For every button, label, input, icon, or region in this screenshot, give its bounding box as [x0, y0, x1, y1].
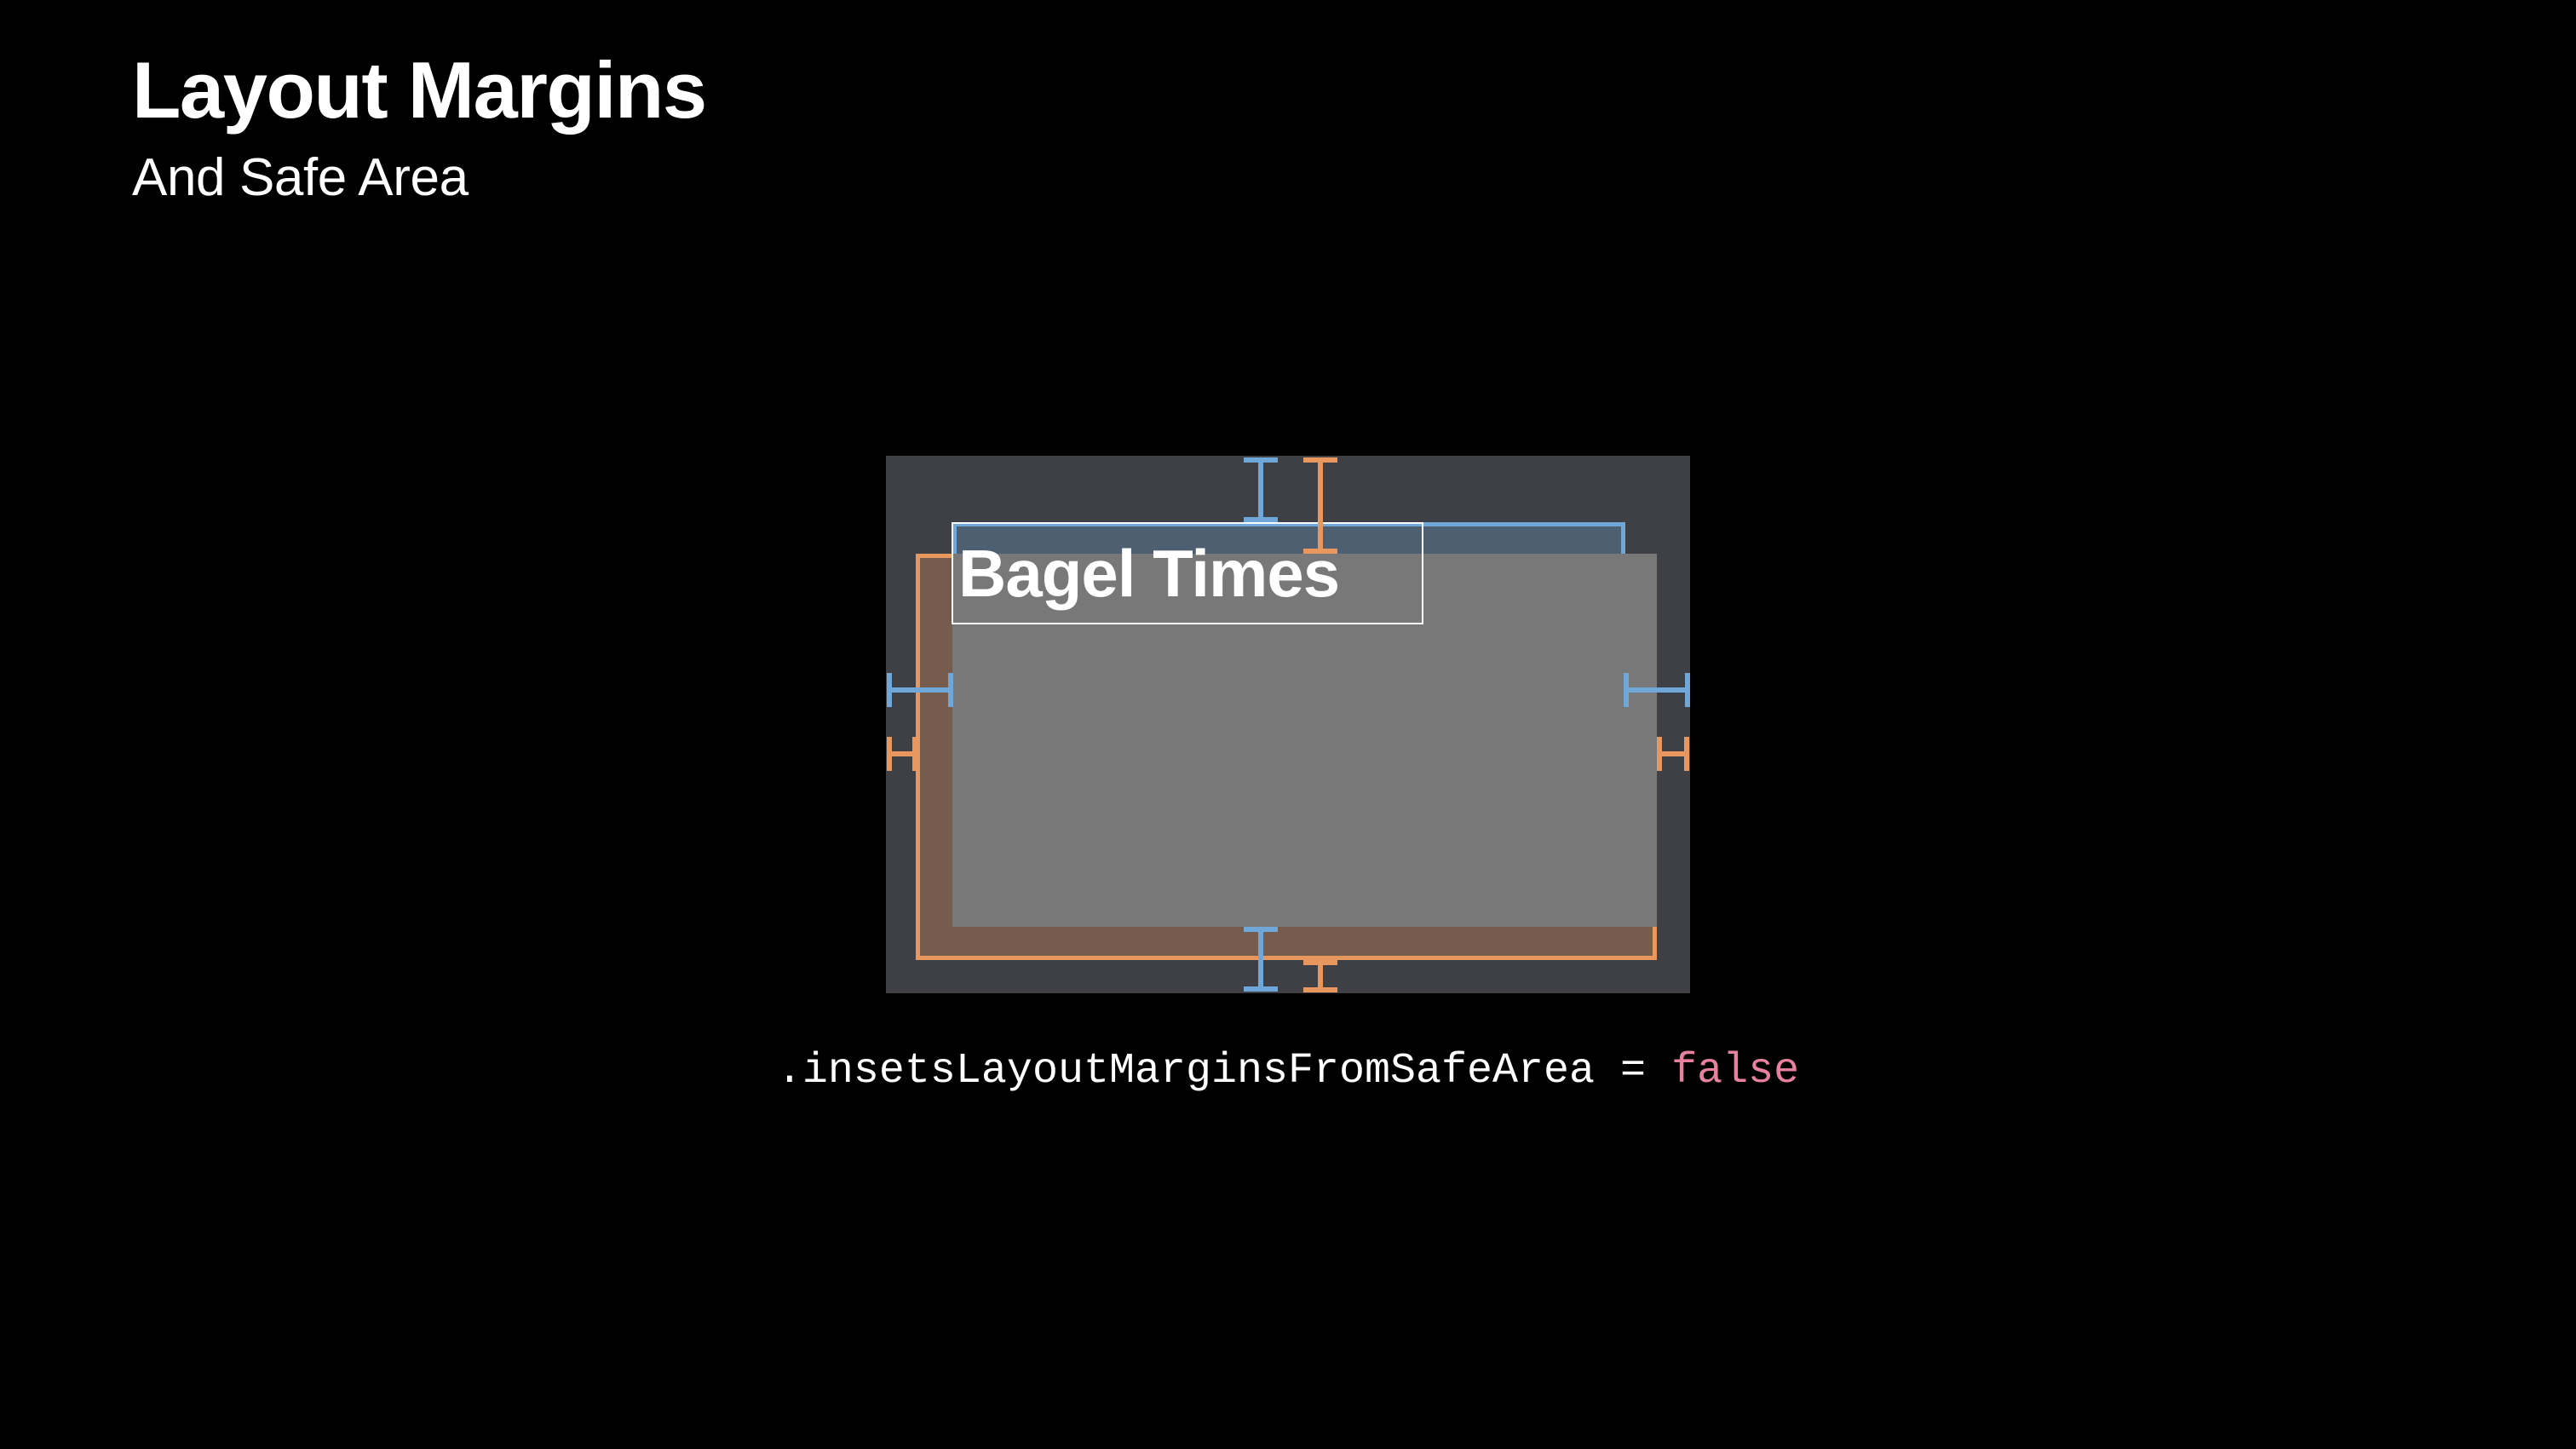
- ibeam-stem: [887, 687, 953, 693]
- code-value: false: [1671, 1047, 1799, 1095]
- bagel-times-label-bounds: Bagel Times: [952, 522, 1423, 624]
- slide-canvas: Layout Margins And Safe Area Bagel Times: [0, 0, 2576, 1449]
- ibeam-cap-left: [1624, 673, 1629, 707]
- ibeam-cap-right: [912, 737, 917, 771]
- ibeam-cap-bottom: [1244, 517, 1278, 522]
- ibeam-cap-top: [1303, 457, 1337, 463]
- right-safe-area-inset-marker: [1624, 673, 1690, 707]
- ibeam-stem: [1258, 927, 1263, 992]
- ibeam-cap-bottom: [1303, 549, 1337, 554]
- top-safe-area-inset-marker: [1244, 457, 1278, 522]
- code-property: .insetsLayoutMarginsFromSafeArea: [777, 1047, 1595, 1095]
- bottom-safe-area-inset-marker: [1244, 927, 1278, 992]
- top-layout-margin-inset-marker: [1303, 457, 1337, 554]
- right-layout-margin-inset-marker: [1657, 737, 1689, 771]
- ibeam-cap-right: [948, 673, 953, 707]
- layout-margins-safe-area-diagram: Bagel Times: [0, 0, 2576, 1449]
- left-layout-margin-inset-marker: [887, 737, 917, 771]
- code-operator: =: [1595, 1047, 1671, 1095]
- code-caption: .insetsLayoutMarginsFromSafeArea = false: [0, 1046, 2576, 1097]
- ibeam-cap-right: [1685, 673, 1690, 707]
- ibeam-cap-top: [1244, 457, 1278, 463]
- ibeam-stem: [1318, 457, 1323, 554]
- ibeam-stem: [1258, 457, 1263, 522]
- ibeam-stem: [1624, 687, 1690, 693]
- bottom-layout-margin-inset-marker: [1303, 960, 1337, 992]
- ibeam-cap-bottom: [1244, 986, 1278, 992]
- ibeam-cap-left: [1657, 737, 1662, 771]
- ibeam-cap-left: [887, 737, 892, 771]
- ibeam-cap-bottom: [1303, 987, 1337, 992]
- ibeam-cap-left: [887, 673, 892, 707]
- left-safe-area-inset-marker: [887, 673, 953, 707]
- bagel-times-label-text: Bagel Times: [958, 540, 1339, 607]
- ibeam-cap-top: [1244, 927, 1278, 932]
- ibeam-cap-right: [1684, 737, 1689, 771]
- ibeam-cap-top: [1303, 960, 1337, 965]
